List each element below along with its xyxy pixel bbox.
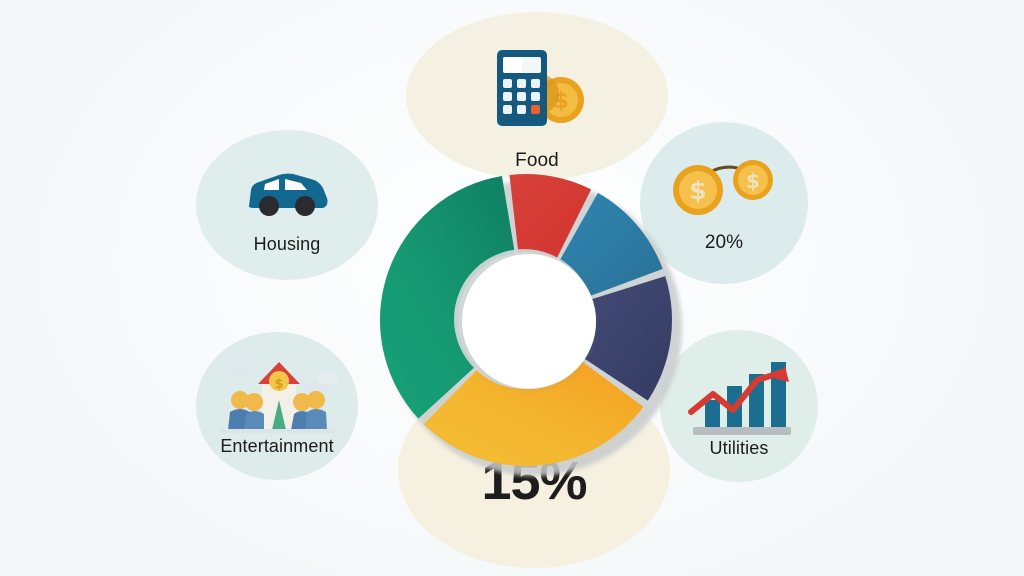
category-label-food: Food: [406, 150, 668, 172]
category-bubble-housing[interactable]: Housing: [196, 130, 378, 280]
category-bubble-food[interactable]: $ Food: [406, 12, 668, 180]
category-label-entertainment: Entertainment: [196, 436, 358, 457]
category-label-housing: Housing: [196, 234, 378, 255]
infographic-canvas: $ Food: [0, 0, 1024, 576]
category-bubble-entertainment[interactable]: $ Entertainment: [196, 332, 358, 480]
calculator-with-coins-icon: $: [477, 38, 597, 143]
car-icon: [235, 160, 339, 233]
house-with-money-people-icon: $: [210, 350, 344, 447]
donut-chart[interactable]: [374, 170, 684, 480]
bar-chart-trend-icon: [683, 348, 795, 445]
svg-text:$: $: [689, 176, 706, 205]
svg-text:$: $: [274, 377, 283, 392]
donut-center-hole: [462, 254, 596, 388]
svg-text:$: $: [746, 169, 760, 193]
